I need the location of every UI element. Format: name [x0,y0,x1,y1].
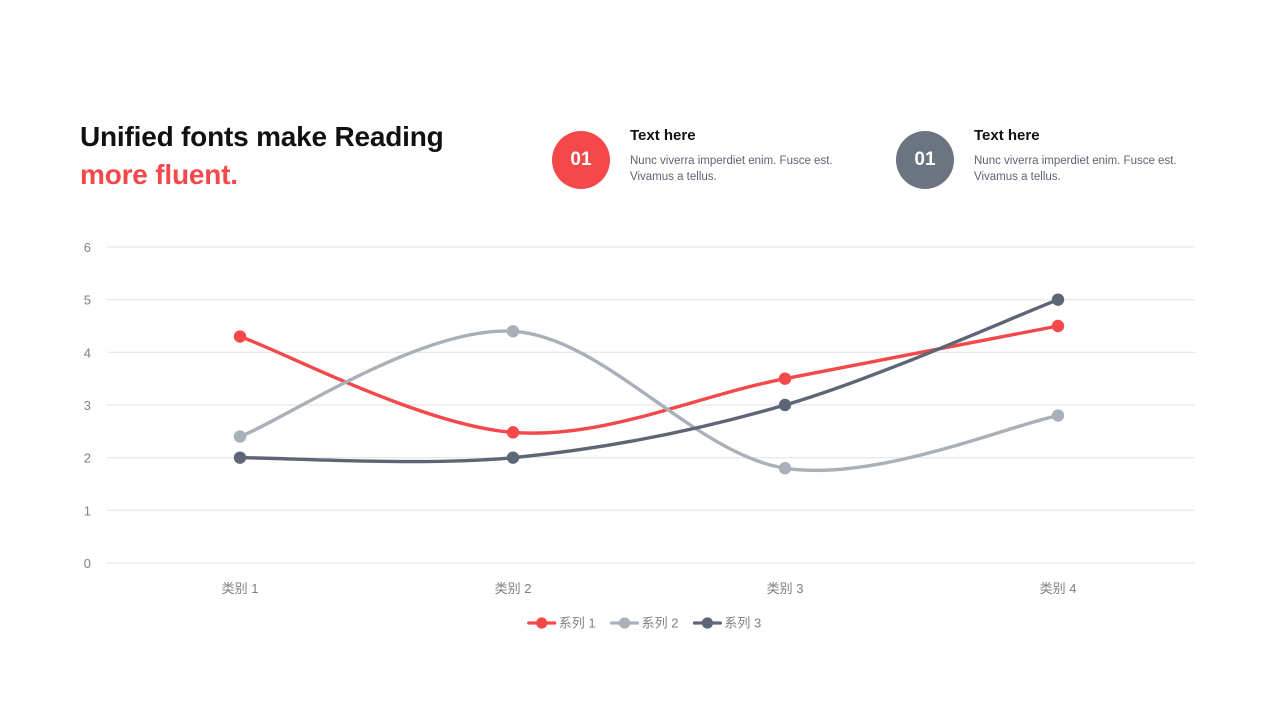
legend-swatch-marker-3 [702,617,713,628]
x-axis-tick-0: 类别 1 [222,581,259,596]
feature-item-2[interactable]: 01 Text here Nunc viverra imperdiet enim… [896,124,1189,189]
title-line-accent: more fluent. [80,156,550,194]
chart-y-axis-labels: 0123456 [84,240,91,571]
y-axis-tick-2: 2 [84,451,91,466]
x-axis-tick-1: 类别 2 [495,581,532,596]
data-point-s2-c4[interactable] [1052,409,1064,421]
y-axis-tick-5: 5 [84,293,91,308]
x-axis-tick-3: 类别 4 [1040,581,1077,596]
chart-gridlines [107,247,1195,563]
y-axis-tick-4: 4 [84,345,91,360]
legend-label-1: 系列 1 [559,615,596,630]
legend-item-3[interactable]: 系列 3 [694,615,761,630]
line-chart: 0123456 类别 1类别 2类别 3类别 4 系列 1系列 2系列 3 [0,230,1280,650]
data-point-s1-c2[interactable] [507,426,519,438]
feature-title-1: Text here [630,126,845,146]
feature-text-2: Text here Nunc viverra imperdiet enim. F… [974,124,1189,185]
data-point-s3-c4[interactable] [1052,293,1064,305]
legend-swatch-marker-2 [619,617,630,628]
data-point-s3-c3[interactable] [779,399,791,411]
data-point-s2-c2[interactable] [507,325,519,337]
data-point-s3-c2[interactable] [507,451,519,463]
slide: Unified fonts make Reading more fluent. … [0,0,1280,720]
data-point-s1-c3[interactable] [779,372,791,384]
feature-number-badge-2: 01 [896,131,954,189]
legend-label-3: 系列 3 [724,615,761,630]
legend-label-2: 系列 2 [642,615,679,630]
chart-legend: 系列 1系列 2系列 3 [529,615,762,630]
y-axis-tick-3: 3 [84,398,91,413]
y-axis-tick-6: 6 [84,240,91,255]
legend-item-1[interactable]: 系列 1 [529,615,596,630]
data-point-s1-c1[interactable] [234,330,246,342]
chart-series-3 [234,293,1064,463]
feature-item-1[interactable]: 01 Text here Nunc viverra imperdiet enim… [552,124,845,189]
y-axis-tick-0: 0 [84,556,91,571]
feature-body-2: Nunc viverra imperdiet enim. Fusce est. … [974,153,1189,185]
legend-item-2[interactable]: 系列 2 [612,615,679,630]
feature-body-1: Nunc viverra imperdiet enim. Fusce est. … [630,153,845,185]
chart-series-1 [234,320,1064,439]
title-line-primary: Unified fonts make Reading [80,118,550,156]
data-point-s3-c1[interactable] [234,451,246,463]
legend-swatch-marker-1 [536,617,547,628]
series-line-1 [240,326,1058,433]
series-line-3 [240,300,1058,462]
chart-canvas: 0123456 类别 1类别 2类别 3类别 4 系列 1系列 2系列 3 [0,230,1280,650]
feature-text-1: Text here Nunc viverra imperdiet enim. F… [630,124,845,185]
slide-header: Unified fonts make Reading more fluent. … [80,118,1200,214]
page-title: Unified fonts make Reading more fluent. [80,118,550,194]
data-point-s2-c3[interactable] [779,462,791,474]
chart-x-axis-labels: 类别 1类别 2类别 3类别 4 [222,581,1077,596]
data-point-s2-c1[interactable] [234,430,246,442]
feature-title-2: Text here [974,126,1189,146]
x-axis-tick-2: 类别 3 [767,581,804,596]
feature-number-badge-1: 01 [552,131,610,189]
data-point-s1-c4[interactable] [1052,320,1064,332]
chart-series-group [234,293,1064,474]
y-axis-tick-1: 1 [84,503,91,518]
